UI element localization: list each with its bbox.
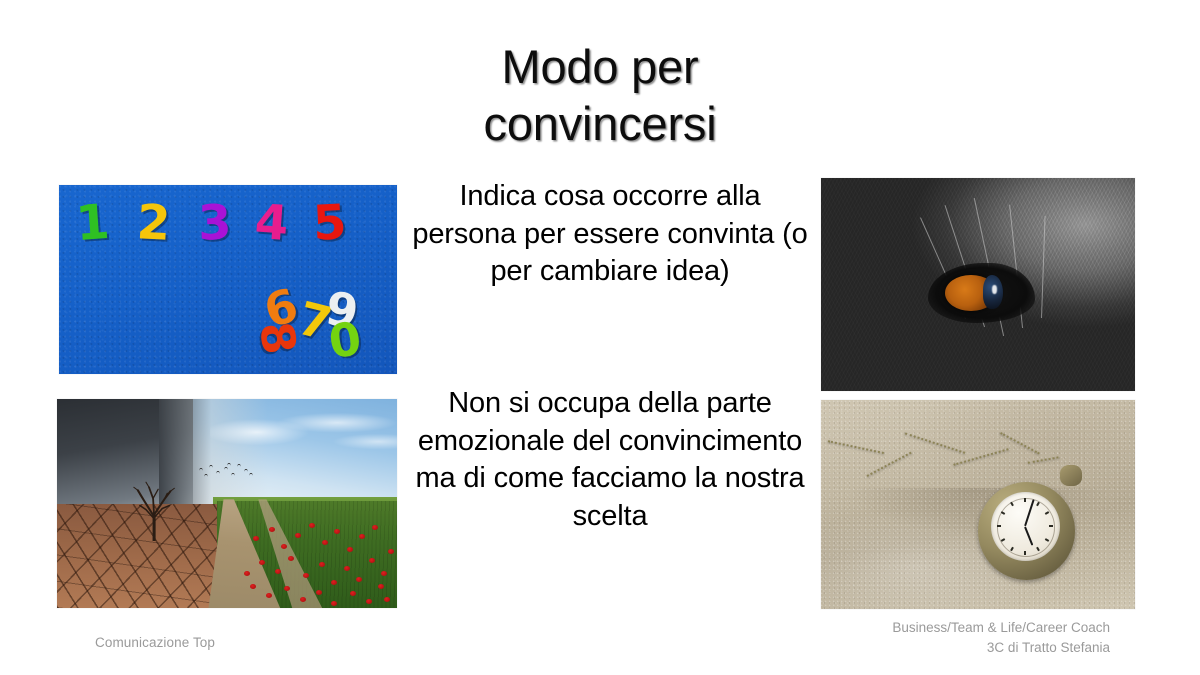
poppy-flower <box>300 597 306 602</box>
poppy-flower <box>250 584 256 589</box>
poppy-flower <box>378 584 384 589</box>
poppy-flower <box>303 573 309 578</box>
poppy-flower <box>244 571 250 576</box>
poppy-flower <box>284 586 290 591</box>
image-pocket-watch <box>821 400 1135 609</box>
poppy-flower <box>381 571 387 576</box>
bird <box>231 473 235 476</box>
poppy-flower <box>359 534 365 539</box>
watch-crown <box>1060 465 1082 486</box>
poppy-flower <box>347 547 353 552</box>
foam-number-3: 3 <box>197 198 232 247</box>
foam-number-4: 4 <box>253 198 290 248</box>
poppy-flower <box>253 536 259 541</box>
poppy-flower <box>259 560 265 565</box>
poppy-flower <box>275 569 281 574</box>
poppy-flower <box>384 597 390 602</box>
bird <box>237 464 241 467</box>
foam-number-1: 1 <box>74 198 111 248</box>
sand-grain-texture <box>821 400 1135 609</box>
poppy-flower <box>366 599 372 604</box>
poppy-flowers <box>241 516 397 608</box>
footer-right: Business/Team & Life/Career Coach 3C di … <box>892 618 1110 659</box>
poppy-flower <box>319 562 325 567</box>
bird <box>249 473 253 476</box>
bird <box>244 469 248 472</box>
bird <box>209 465 213 468</box>
hour-marker-6 <box>1024 551 1026 555</box>
poppy-flower <box>295 533 301 538</box>
footer-right-line-1: Business/Team & Life/Career Coach <box>892 618 1110 638</box>
foam-number-2: 2 <box>136 198 172 248</box>
image-drought-and-field <box>57 399 397 608</box>
poppy-flower <box>309 523 315 528</box>
body-paragraph-1: Indica cosa occorre alla persona per ess… <box>412 178 808 291</box>
foam-number-5: 5 <box>311 198 347 248</box>
bird <box>216 471 220 474</box>
footer-right-line-2: 3C di Tratto Stefania <box>892 638 1110 658</box>
image-foam-numbers: 1234567890 <box>59 185 397 374</box>
hour-marker-12 <box>1024 498 1026 502</box>
poppy-flower <box>388 549 394 554</box>
poppy-flower <box>331 580 337 585</box>
poppy-flower <box>369 558 375 563</box>
poppy-flower <box>269 527 275 532</box>
bird <box>199 468 203 471</box>
eye-glint <box>992 285 997 295</box>
poppy-flower <box>356 577 362 582</box>
bird <box>227 463 231 466</box>
body-paragraph-2: Non si occupa della parte emozionale del… <box>412 385 808 536</box>
poppy-flower <box>372 525 378 530</box>
foam-number-8: 8 <box>253 319 303 357</box>
bird <box>204 474 208 477</box>
birds-flock <box>193 462 254 479</box>
footer-left-text: Comunicazione Top <box>95 635 215 650</box>
foam-number-0: 0 <box>326 315 364 365</box>
poppy-flower <box>281 544 287 549</box>
bird <box>224 467 228 470</box>
poppy-flower <box>316 590 322 595</box>
poppy-flower <box>322 540 328 545</box>
image-animal-eye <box>821 178 1135 391</box>
poppy-flower <box>344 566 350 571</box>
slide-canvas: Modo per convincersi Indica cosa occorre… <box>0 0 1200 675</box>
poppy-flower <box>334 529 340 534</box>
poppy-flower <box>331 601 337 606</box>
page-title: Modo per convincersi <box>380 38 820 153</box>
dead-tree <box>115 470 193 541</box>
poppy-flower <box>266 593 272 598</box>
clouds <box>210 407 397 470</box>
poppy-flower <box>350 591 356 596</box>
poppy-flower <box>288 556 294 561</box>
